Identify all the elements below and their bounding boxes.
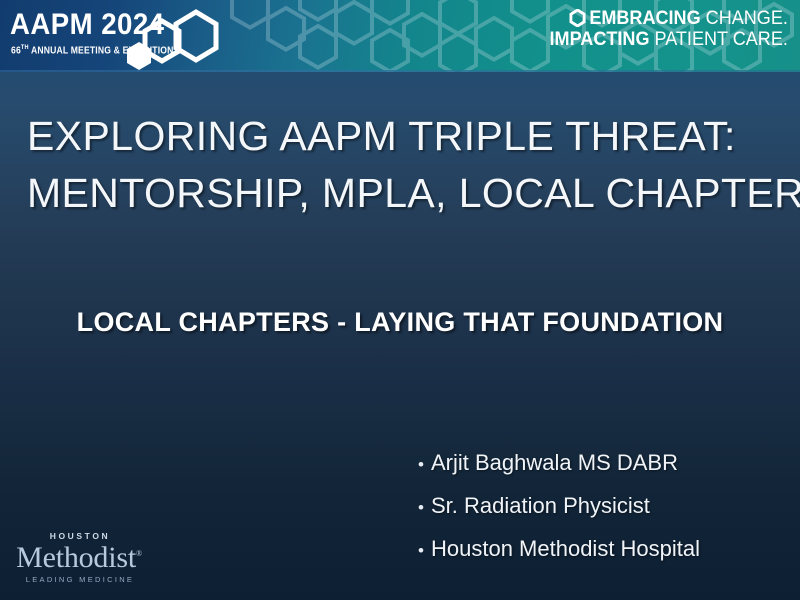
slide-subtitle: LOCAL CHAPTERS - LAYING THAT FOUNDATION bbox=[0, 307, 800, 338]
hexagon-cluster-icon bbox=[126, 8, 226, 72]
bullet-marker-icon: • bbox=[418, 456, 431, 473]
logo-methodist-word: Methodist bbox=[16, 541, 136, 574]
presenter-bullet-list: • Arjit Baghwala MS DABR • Sr. Radiation… bbox=[418, 450, 788, 579]
tagline-ordinal-suffix: TH bbox=[21, 44, 29, 51]
presenter-affiliation: Houston Methodist Hospital bbox=[431, 536, 700, 562]
banner-divider bbox=[0, 70, 800, 72]
logo-methodist-text: Methodist® bbox=[14, 542, 144, 574]
list-item: • Arjit Baghwala MS DABR bbox=[418, 450, 788, 476]
slide-title: EXPLORING AAPM TRIPLE THREAT: MENTORSHIP… bbox=[27, 108, 773, 221]
slide-subtitle-text: LOCAL CHAPTERS - LAYING THAT FOUNDATION bbox=[77, 307, 724, 338]
slogan-change: CHANGE. bbox=[701, 8, 788, 29]
presenter-title: Sr. Radiation Physicist bbox=[431, 493, 650, 519]
aapm-logo-lockup: AAPM 2024 66TH ANNUAL MEETING & EXHIBITI… bbox=[8, 8, 223, 66]
list-item: • Sr. Radiation Physicist bbox=[418, 493, 788, 519]
slide-title-line-1: EXPLORING AAPM TRIPLE THREAT: bbox=[27, 108, 773, 165]
slogan-line-1: EMBRACING CHANGE. bbox=[550, 8, 788, 29]
slogan-line-2: IMPACTING PATIENT CARE. bbox=[550, 29, 788, 50]
hexagon-outline-icon bbox=[569, 9, 585, 27]
slogan-patient-care: PATIENT CARE. bbox=[650, 29, 788, 50]
logo-tagline-text: LEADING MEDICINE bbox=[14, 576, 144, 584]
tagline-ordinal: 66 bbox=[11, 45, 21, 56]
list-item: • Houston Methodist Hospital bbox=[418, 536, 788, 562]
slide-title-line-2: MENTORSHIP, MPLA, LOCAL CHAPTERS bbox=[27, 165, 773, 222]
conference-header-banner: AAPM 2024 66TH ANNUAL MEETING & EXHIBITI… bbox=[0, 0, 800, 72]
presentation-slide: AAPM 2024 66TH ANNUAL MEETING & EXHIBITI… bbox=[0, 0, 800, 600]
bullet-marker-icon: • bbox=[418, 499, 431, 516]
bullet-marker-icon: • bbox=[418, 542, 431, 559]
slogan-embracing: EMBRACING bbox=[589, 8, 700, 29]
logo-houston-text: HOUSTON bbox=[14, 532, 144, 541]
houston-methodist-logo: HOUSTON Methodist® LEADING MEDICINE bbox=[14, 532, 144, 588]
presenter-name: Arjit Baghwala MS DABR bbox=[431, 450, 678, 476]
slogan-impacting: IMPACTING bbox=[550, 29, 650, 50]
registered-mark-icon: ® bbox=[136, 549, 142, 558]
conference-slogan: EMBRACING CHANGE. IMPACTING PATIENT CARE… bbox=[537, 8, 788, 51]
